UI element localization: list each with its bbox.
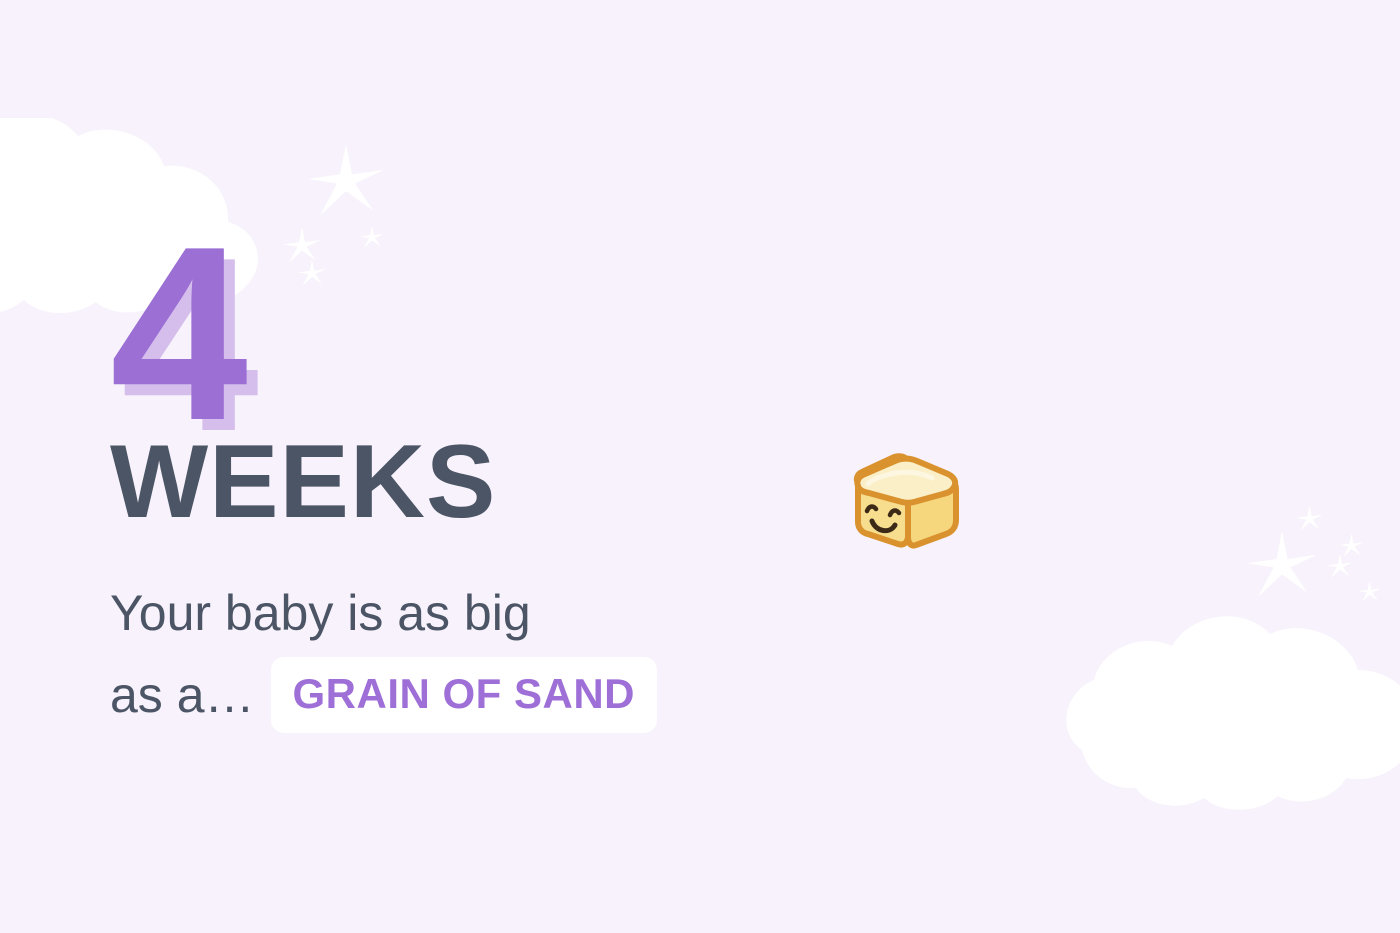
size-comparison-badge: GRAIN OF SAND (271, 657, 658, 733)
sparkle-small-right-a-icon (1296, 505, 1323, 533)
sparkle-small-right-d-icon (1358, 580, 1381, 604)
tagline-prefix: as a… (110, 654, 255, 736)
cloud-bottom-right-icon (1062, 600, 1400, 815)
sparkle-large-upper-left-icon (308, 143, 384, 221)
sand-grain-cube-icon (850, 450, 962, 556)
tagline-line-2: as a… GRAIN OF SAND (110, 654, 970, 736)
week-number: 4 (110, 209, 242, 457)
tagline-line-1: Your baby is as big (110, 572, 970, 654)
sparkle-large-right-icon (1247, 530, 1317, 602)
week-number-wrap: 4 (110, 255, 410, 430)
sparkle-small-right-c-icon (1327, 553, 1353, 580)
tagline: Your baby is as big as a… GRAIN OF SAND (110, 572, 970, 736)
pregnancy-week-card: 4 WEEKS Your baby is as big as a… GRAIN … (0, 0, 1400, 933)
sparkle-small-upper-left-b-icon (360, 225, 384, 250)
milestone-text-block: 4 WEEKS Your baby is as big as a… GRAIN … (110, 255, 970, 736)
